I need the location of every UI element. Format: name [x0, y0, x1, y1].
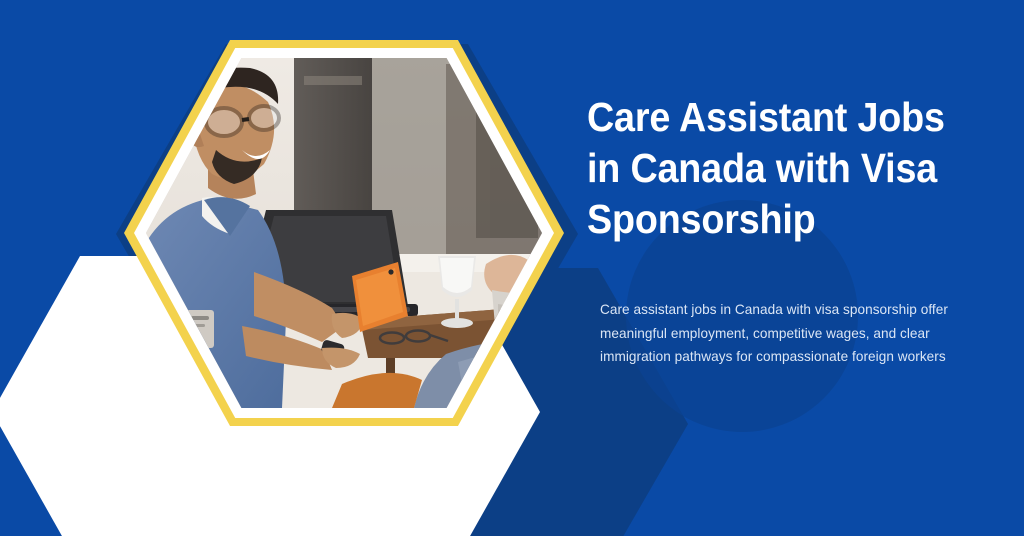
page-title: Care Assistant Jobs in Canada with Visa … — [587, 92, 955, 245]
text-column: Care Assistant Jobs in Canada with Visa … — [587, 92, 987, 245]
photo-hexagon-frame — [124, 40, 564, 426]
subtitle-text: Care assistant jobs in Canada with visa … — [600, 298, 980, 369]
promo-banner: Care Assistant Jobs in Canada with Visa … — [0, 0, 1024, 536]
